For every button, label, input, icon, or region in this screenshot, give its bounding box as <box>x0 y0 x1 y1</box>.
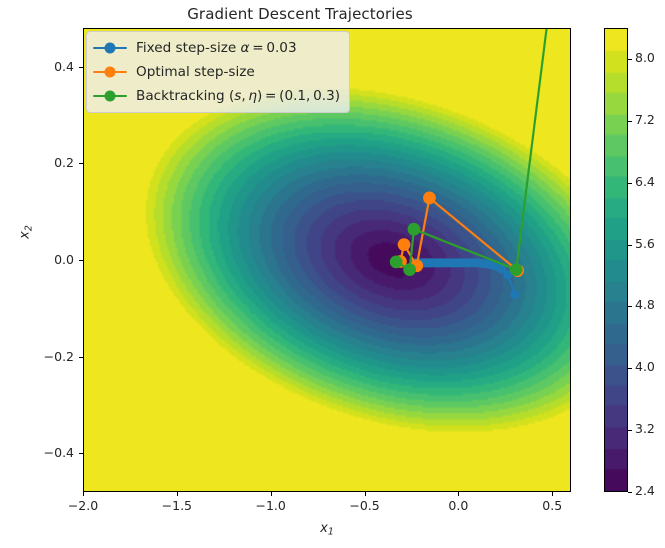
legend-item-1[interactable]: Optimal step-size <box>93 61 340 83</box>
y-tick-label: 0.2 <box>18 155 74 170</box>
x-axis-label: x1 <box>83 521 571 538</box>
x-tick <box>458 492 459 496</box>
colorbar-tick-label: 7.2 <box>635 112 655 127</box>
colorbar-tick <box>628 245 632 246</box>
colorbar-tick-label: 6.4 <box>635 174 655 189</box>
trajectory-marker <box>408 223 421 236</box>
y-tick-label: −0.2 <box>18 349 74 364</box>
y-tick <box>79 357 83 358</box>
colorbar-tick-label: 4.8 <box>635 297 655 312</box>
x-tick-label: 0.0 <box>428 498 488 513</box>
y-tick <box>79 260 83 261</box>
trajectory-marker <box>403 263 416 276</box>
trajectory-marker <box>510 290 519 299</box>
colorbar-tick-label: 5.6 <box>635 236 655 251</box>
x-tick-label: −0.5 <box>335 498 395 513</box>
figure: Gradient Descent Trajectories Fixed step… <box>0 0 665 548</box>
trajectory-marker <box>423 192 436 205</box>
x-tick-label: 0.5 <box>522 498 582 513</box>
trajectory-line <box>396 28 555 270</box>
x-tick <box>83 492 84 496</box>
colorbar-tick-label: 2.4 <box>635 483 655 498</box>
colorbar-tick-label: 3.2 <box>635 421 655 436</box>
colorbar-tick <box>628 306 632 307</box>
colorbar-tick <box>628 183 632 184</box>
x-tick <box>177 492 178 496</box>
legend-marker-icon <box>93 65 127 79</box>
y-tick <box>79 163 83 164</box>
colorbar-tick <box>628 430 632 431</box>
legend-label: Optimal step-size <box>136 64 255 80</box>
colorbar-tick-label: 4.0 <box>635 359 655 374</box>
x-tick <box>365 492 366 496</box>
legend-item-0[interactable]: Fixed step-size α = 0.03 <box>93 37 340 59</box>
chart-title: Gradient Descent Trajectories <box>0 5 600 23</box>
y-tick <box>79 453 83 454</box>
trajectory-marker <box>398 238 411 251</box>
legend-marker-icon <box>93 89 127 103</box>
x-tick <box>552 492 553 496</box>
colorbar-tick <box>628 368 632 369</box>
y-tick-label: 0.4 <box>18 59 74 74</box>
colorbar-canvas <box>605 29 627 491</box>
x-tick-label: −1.5 <box>147 498 207 513</box>
colorbar-tick <box>628 59 632 60</box>
trajectory-backtracking <box>390 28 555 276</box>
colorbar <box>604 28 628 492</box>
y-axis-label: x2 <box>18 202 35 262</box>
legend-item-2[interactable]: Backtracking (s, η) = (0.1, 0.3) <box>93 85 340 107</box>
y-tick-label: −0.4 <box>18 445 74 460</box>
x-tick-label: −1.0 <box>241 498 301 513</box>
colorbar-tick-label: 8.0 <box>635 50 655 65</box>
legend: Fixed step-size α = 0.03Optimal step-siz… <box>86 31 350 113</box>
colorbar-tick <box>628 121 632 122</box>
trajectory-marker <box>390 256 403 269</box>
x-tick <box>271 492 272 496</box>
colorbar-tick <box>628 492 632 493</box>
legend-label: Backtracking (s, η) = (0.1, 0.3) <box>136 88 340 104</box>
x-tick-label: −2.0 <box>53 498 113 513</box>
trajectory-marker <box>510 263 523 276</box>
legend-marker-icon <box>93 41 127 55</box>
legend-label: Fixed step-size α = 0.03 <box>136 40 297 56</box>
y-tick <box>79 67 83 68</box>
